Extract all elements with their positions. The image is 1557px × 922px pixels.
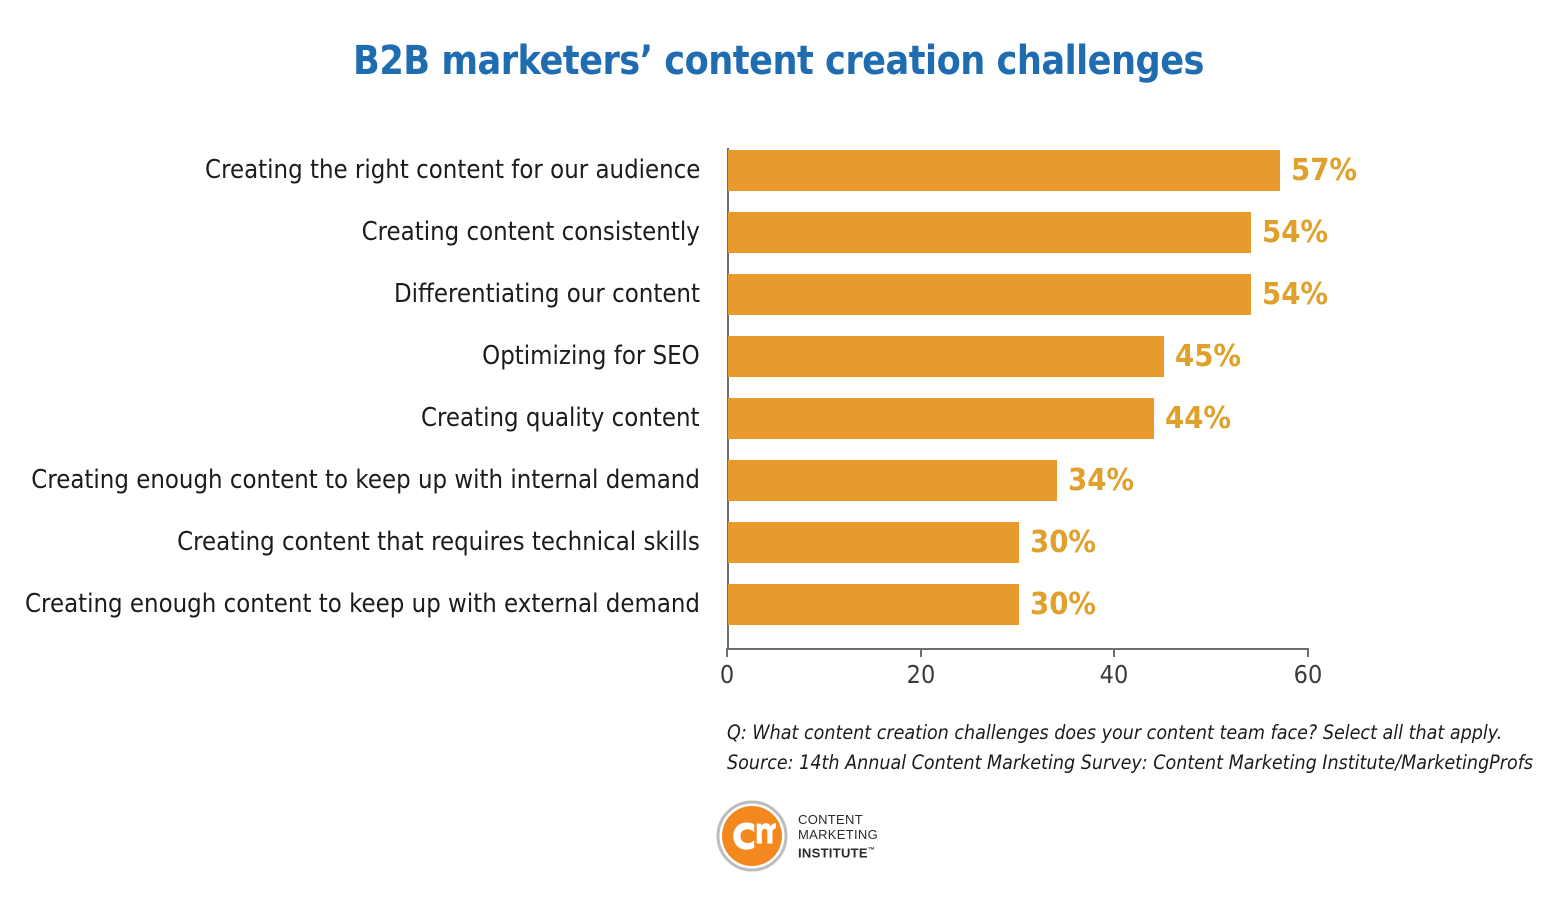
bar-row: Creating enough content to keep up with … <box>0 460 1557 501</box>
x-axis-line <box>727 648 1309 650</box>
x-tick-20 <box>920 648 922 657</box>
bar-value-label: 54% <box>1262 212 1328 253</box>
logo-line-marketing: MARKETING <box>798 827 878 843</box>
bar <box>728 212 1251 253</box>
cmi-logo: CONTENT MARKETING INSTITUTE™ <box>716 800 878 872</box>
bar-value-label: 54% <box>1262 274 1328 315</box>
bar-row: Creating enough content to keep up with … <box>0 584 1557 625</box>
trademark-symbol: ™ <box>868 847 875 854</box>
bar-row: Optimizing for SEO45% <box>0 336 1557 377</box>
bar-row: Creating content that requires technical… <box>0 522 1557 563</box>
bar-row: Creating content consistently54% <box>0 212 1557 253</box>
category-label: Creating enough content to keep up with … <box>25 584 700 625</box>
x-tick-label-20: 20 <box>906 660 935 689</box>
category-label: Optimizing for SEO <box>482 336 700 377</box>
category-label: Creating content that requires technical… <box>177 522 700 563</box>
bar-value-label: 44% <box>1165 398 1231 439</box>
bar-value-label: 45% <box>1175 336 1241 377</box>
cmi-logo-mark <box>716 800 788 872</box>
x-tick-label-40: 40 <box>1100 660 1129 689</box>
footnote-line-2: Source: 14th Annual Content Marketing Su… <box>727 748 1456 778</box>
bar-chart: 0204060 Creating the right content for o… <box>0 140 1557 660</box>
category-label: Creating enough content to keep up with … <box>31 460 700 501</box>
x-tick-label-0: 0 <box>720 660 734 689</box>
x-tick-label-60: 60 <box>1294 660 1323 689</box>
x-tick-40 <box>1113 648 1115 657</box>
category-label: Creating content consistently <box>362 212 700 253</box>
bar-row: Creating quality content44% <box>0 398 1557 439</box>
category-label: Creating quality content <box>421 398 700 439</box>
category-label: Creating the right content for our audie… <box>205 150 700 191</box>
footnotes: Q: What content creation challenges does… <box>727 718 1537 778</box>
cmi-logo-text: CONTENT MARKETING INSTITUTE™ <box>798 812 878 861</box>
bar <box>728 398 1154 439</box>
bar <box>728 522 1019 563</box>
bar <box>728 460 1057 501</box>
bar-value-label: 30% <box>1030 522 1096 563</box>
logo-line-content: CONTENT <box>798 812 878 828</box>
bar-row: Differentiating our content54% <box>0 274 1557 315</box>
logo-institute-word: INSTITUTE <box>798 845 868 860</box>
bar <box>728 150 1280 191</box>
bar <box>728 274 1251 315</box>
x-tick-60 <box>1307 648 1309 657</box>
footnote-line-1: Q: What content creation challenges does… <box>727 718 1456 748</box>
bar-value-label: 34% <box>1068 460 1134 501</box>
bar <box>728 336 1164 377</box>
bar-value-label: 30% <box>1030 584 1096 625</box>
x-tick-0 <box>726 648 728 657</box>
category-label: Differentiating our content <box>394 274 700 315</box>
bar-value-label: 57% <box>1291 150 1357 191</box>
bar <box>728 584 1019 625</box>
bar-row: Creating the right content for our audie… <box>0 150 1557 191</box>
page-title: B2B marketers’ content creation challeng… <box>93 38 1463 84</box>
logo-line-institute: INSTITUTE™ <box>798 843 878 861</box>
